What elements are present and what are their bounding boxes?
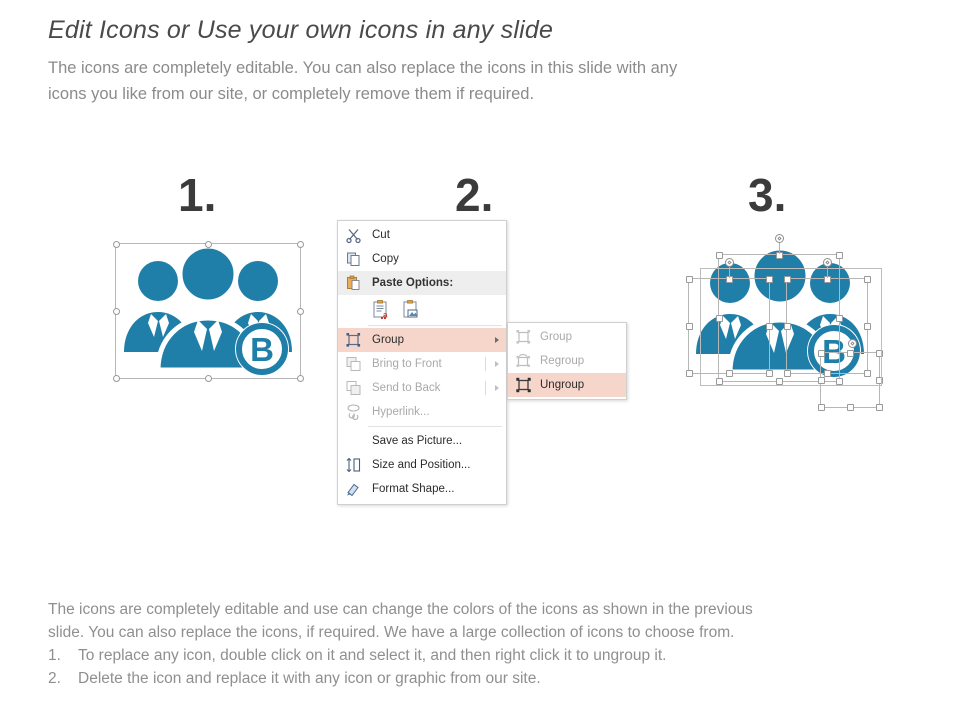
slide-canvas: Edit Icons or Use your own icons in any … — [0, 0, 960, 720]
subtitle-line-2: icons you like from our site, or complet… — [48, 81, 888, 107]
selection-handle-se[interactable] — [297, 375, 304, 382]
menu-item-paste-options-label: Paste Options: — [372, 277, 506, 289]
chevron-right-icon — [495, 385, 499, 391]
menu-divider — [485, 357, 486, 371]
regroup-icon — [515, 353, 532, 370]
footer-steps-list: 1. To replace any icon, double click on … — [48, 644, 938, 690]
paste-keep-text-icon[interactable]: a — [372, 299, 392, 320]
step-number-1: 1. — [178, 172, 216, 218]
menu-item-cut[interactable]: Cut — [338, 223, 506, 247]
sub-handle-sw[interactable] — [686, 370, 693, 377]
menu-item-hyperlink[interactable]: Hyperlink... — [338, 400, 506, 424]
sub-handle-w[interactable] — [686, 323, 693, 330]
context-menu[interactable]: Cut Copy Paste Options: — [337, 220, 507, 505]
chevron-right-icon — [495, 337, 499, 343]
selection-handle-e[interactable] — [297, 308, 304, 315]
selection-handle-ne[interactable] — [297, 241, 304, 248]
footer-line-1: The icons are completely editable and us… — [48, 598, 938, 621]
submenu-item-ungroup-label: Ungroup — [540, 379, 626, 391]
selection-handle-sw[interactable] — [113, 375, 120, 382]
sub-handle-s[interactable] — [847, 404, 854, 411]
sub-handle-sw[interactable] — [818, 404, 825, 411]
send-to-back-icon — [345, 380, 362, 397]
menu-item-format-shape-label: Format Shape... — [372, 483, 506, 495]
selection-box-step1[interactable] — [115, 243, 301, 379]
step-number-3: 3. — [748, 172, 786, 218]
menu-separator — [368, 426, 502, 427]
selection-handle-nw[interactable] — [113, 241, 120, 248]
submenu-item-regroup[interactable]: Regroup — [508, 349, 626, 373]
group-submenu[interactable]: Group Regroup — [507, 322, 627, 400]
paste-options-row[interactable]: a — [338, 295, 506, 323]
footer-text: The icons are completely editable and us… — [48, 598, 938, 690]
menu-item-size-and-position[interactable]: Size and Position... — [338, 453, 506, 477]
submenu-item-regroup-label: Regroup — [540, 355, 626, 367]
menu-item-group[interactable]: Group — [338, 328, 506, 352]
page-subtitle: The icons are completely editable. You c… — [48, 55, 888, 107]
menu-item-bring-to-front-label: Bring to Front — [372, 358, 495, 370]
list-item-number: 1. — [48, 644, 78, 667]
bring-to-front-icon — [345, 356, 362, 373]
copy-icon — [345, 251, 362, 268]
menu-item-bring-to-front[interactable]: Bring to Front — [338, 352, 506, 376]
page-title: Edit Icons or Use your own icons in any … — [48, 16, 908, 45]
menu-item-save-as-picture-label: Save as Picture... — [372, 435, 506, 447]
subtitle-line-1: The icons are completely editable. You c… — [48, 55, 888, 81]
list-item: 2. Delete the icon and replace it with a… — [48, 667, 938, 690]
menu-item-send-to-back[interactable]: Send to Back — [338, 376, 506, 400]
selection-handle-s[interactable] — [205, 375, 212, 382]
sub-selection-outer-marquee[interactable] — [700, 268, 882, 386]
chevron-right-icon — [495, 361, 499, 367]
submenu-item-group[interactable]: Group — [508, 325, 626, 349]
rotation-handle-center[interactable] — [775, 234, 784, 243]
hyperlink-icon — [345, 404, 362, 421]
selection-handle-w[interactable] — [113, 308, 120, 315]
menu-item-size-and-position-label: Size and Position... — [372, 459, 506, 471]
list-item-number: 2. — [48, 667, 78, 690]
submenu-item-group-label: Group — [540, 331, 626, 343]
step-number-2: 2. — [455, 172, 493, 218]
group-icon — [515, 329, 532, 346]
scissors-icon — [345, 227, 362, 244]
menu-divider — [485, 381, 486, 395]
sub-handle-nw[interactable] — [686, 276, 693, 283]
ungroup-icon — [515, 377, 532, 394]
menu-item-paste-options: Paste Options: — [338, 271, 506, 295]
sub-handle-nw[interactable] — [716, 252, 723, 259]
list-item: 1. To replace any icon, double click on … — [48, 644, 938, 667]
size-position-icon — [345, 457, 362, 474]
sub-handle-ne[interactable] — [836, 252, 843, 259]
selection-handle-n[interactable] — [205, 241, 212, 248]
submenu-item-ungroup[interactable]: Ungroup — [508, 373, 626, 397]
menu-item-copy[interactable]: Copy — [338, 247, 506, 271]
menu-item-format-shape[interactable]: Format Shape... — [338, 477, 506, 501]
menu-item-copy-label: Copy — [372, 253, 506, 265]
menu-item-hyperlink-label: Hyperlink... — [372, 406, 506, 418]
menu-item-save-as-picture[interactable]: Save as Picture... — [338, 429, 506, 453]
menu-item-cut-label: Cut — [372, 229, 506, 241]
clipboard-icon — [345, 275, 362, 292]
menu-item-send-to-back-label: Send to Back — [372, 382, 495, 394]
list-item-text: To replace any icon, double click on it … — [78, 644, 666, 667]
menu-item-group-label: Group — [372, 334, 495, 346]
menu-separator — [368, 325, 502, 326]
format-shape-icon — [345, 481, 362, 498]
footer-line-2: slide. You can also replace the icons, i… — [48, 621, 938, 644]
list-item-text: Delete the icon and replace it with any … — [78, 667, 541, 690]
sub-handle-se[interactable] — [876, 404, 883, 411]
paste-picture-icon[interactable] — [402, 299, 422, 320]
group-icon — [345, 332, 362, 349]
